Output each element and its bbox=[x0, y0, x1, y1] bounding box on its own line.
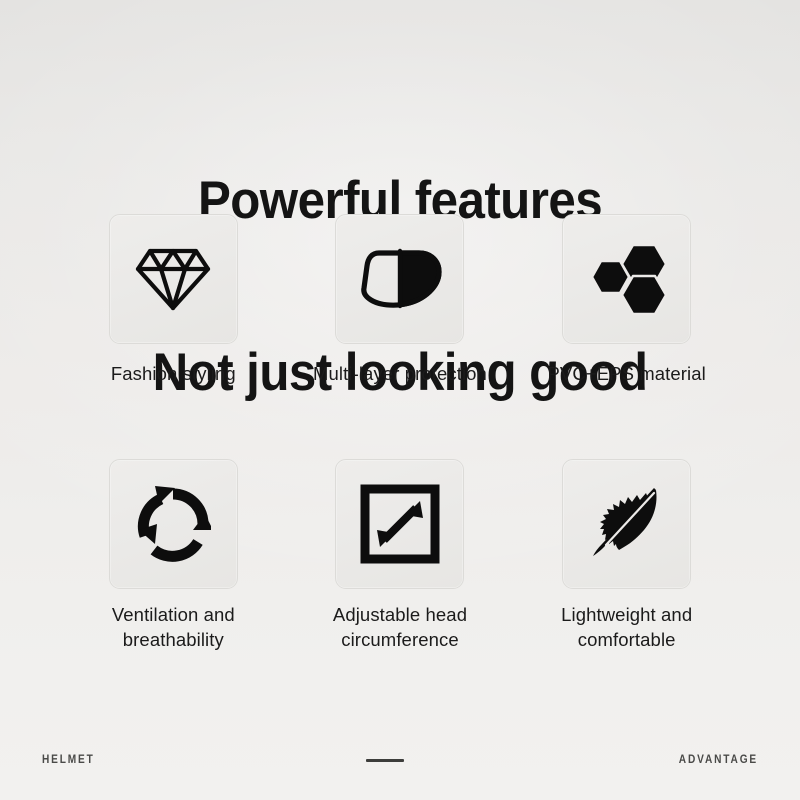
footer-label-left: HELMET bbox=[42, 754, 95, 766]
diamond-icon bbox=[134, 244, 212, 314]
feature-item-multi-layer-protection[interactable]: Multi-layer protection bbox=[287, 214, 514, 407]
circular-arrows-ventilation-icon bbox=[135, 486, 211, 562]
feature-label: Lightweight and comfortable bbox=[561, 603, 692, 652]
feature-item-fashion-styling[interactable]: Fashion styling bbox=[60, 214, 287, 407]
icon-tile bbox=[109, 459, 238, 589]
feature-label: Fashion styling bbox=[111, 362, 236, 387]
feather-icon bbox=[586, 484, 668, 564]
footer-divider-rule bbox=[366, 759, 404, 762]
feature-grid: Fashion styling bbox=[60, 214, 740, 652]
feature-label: Multi-layer protection bbox=[313, 362, 487, 387]
icon-tile bbox=[335, 459, 464, 589]
multilayer-helmet-icon bbox=[357, 248, 443, 310]
feature-label: PVC+EPS material bbox=[547, 362, 705, 387]
icon-tile bbox=[109, 214, 238, 344]
feature-item-adjustable-head-circumference[interactable]: Adjustable head circumference bbox=[287, 459, 514, 652]
feature-item-ventilation-breathability[interactable]: Ventilation and breathability bbox=[60, 459, 287, 652]
icon-tile bbox=[335, 214, 464, 344]
resize-diagonal-arrow-icon bbox=[360, 484, 440, 564]
footer: HELMET ADVANTAGE bbox=[42, 750, 758, 770]
footer-label-right: ADVANTAGE bbox=[679, 754, 758, 766]
feature-item-pvc-eps-material[interactable]: PVC+EPS material bbox=[513, 214, 740, 407]
icon-tile bbox=[562, 214, 691, 344]
feature-poster: Powerful features Not just looking good … bbox=[0, 0, 800, 800]
feature-label: Ventilation and breathability bbox=[112, 603, 235, 652]
feature-item-lightweight-comfortable[interactable]: Lightweight and comfortable bbox=[513, 459, 740, 652]
feature-label: Adjustable head circumference bbox=[333, 603, 467, 652]
icon-tile bbox=[562, 459, 691, 589]
honeycomb-hexagons-icon bbox=[587, 242, 667, 316]
